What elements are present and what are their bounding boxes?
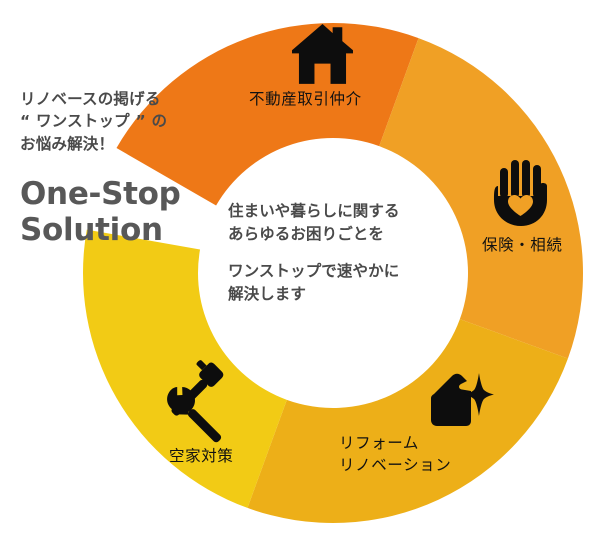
center-paragraph-1: 住まいや暮らしに関する あらゆるお困りごとを — [228, 200, 458, 246]
segment-label-vacant: 空家対策 — [169, 445, 233, 467]
donut-segment-reform[interactable] — [247, 319, 567, 523]
center-paragraph-2-line-2: 解決します — [228, 285, 306, 303]
center-paragraph-1-line-1: 住まいや暮らしに関する — [228, 202, 400, 220]
main-title-line-1: One-Stop — [20, 177, 235, 213]
segment-label-reform-line-1: リフォーム — [339, 434, 419, 452]
segment-label-broker: 不動産取引仲介 — [249, 88, 362, 110]
segment-label-reform-line-2: リノベーション — [339, 456, 451, 474]
center-paragraph-2: ワンストップで速やかに 解決します — [228, 260, 458, 306]
lead-line-2: “ ワンストップ ” の — [20, 110, 235, 132]
donut-segment-insurance[interactable] — [379, 38, 583, 358]
lead-line-1: リノベースの掲げる — [20, 88, 235, 110]
headline-block: リノベースの掲げる “ ワンストップ ” の お悩み解決！ One-Stop S… — [20, 88, 235, 249]
lead-line-3: お悩み解決！ — [20, 133, 235, 155]
center-description: 住まいや暮らしに関する あらゆるお困りごとを ワンストップで速やかに 解決します — [228, 200, 458, 306]
center-paragraph-1-line-2: あらゆるお困りごとを — [228, 225, 384, 243]
main-title-line-2: Solution — [20, 213, 235, 249]
segment-label-reform: リフォーム リノベーション — [339, 432, 451, 477]
main-title: One-Stop Solution — [20, 177, 235, 249]
infographic-canvas: リノベースの掲げる “ ワンストップ ” の お悩み解決！ One-Stop S… — [0, 0, 600, 533]
segment-label-insurance: 保険・相続 — [482, 234, 563, 256]
center-paragraph-2-line-1: ワンストップで速やかに — [228, 262, 399, 280]
